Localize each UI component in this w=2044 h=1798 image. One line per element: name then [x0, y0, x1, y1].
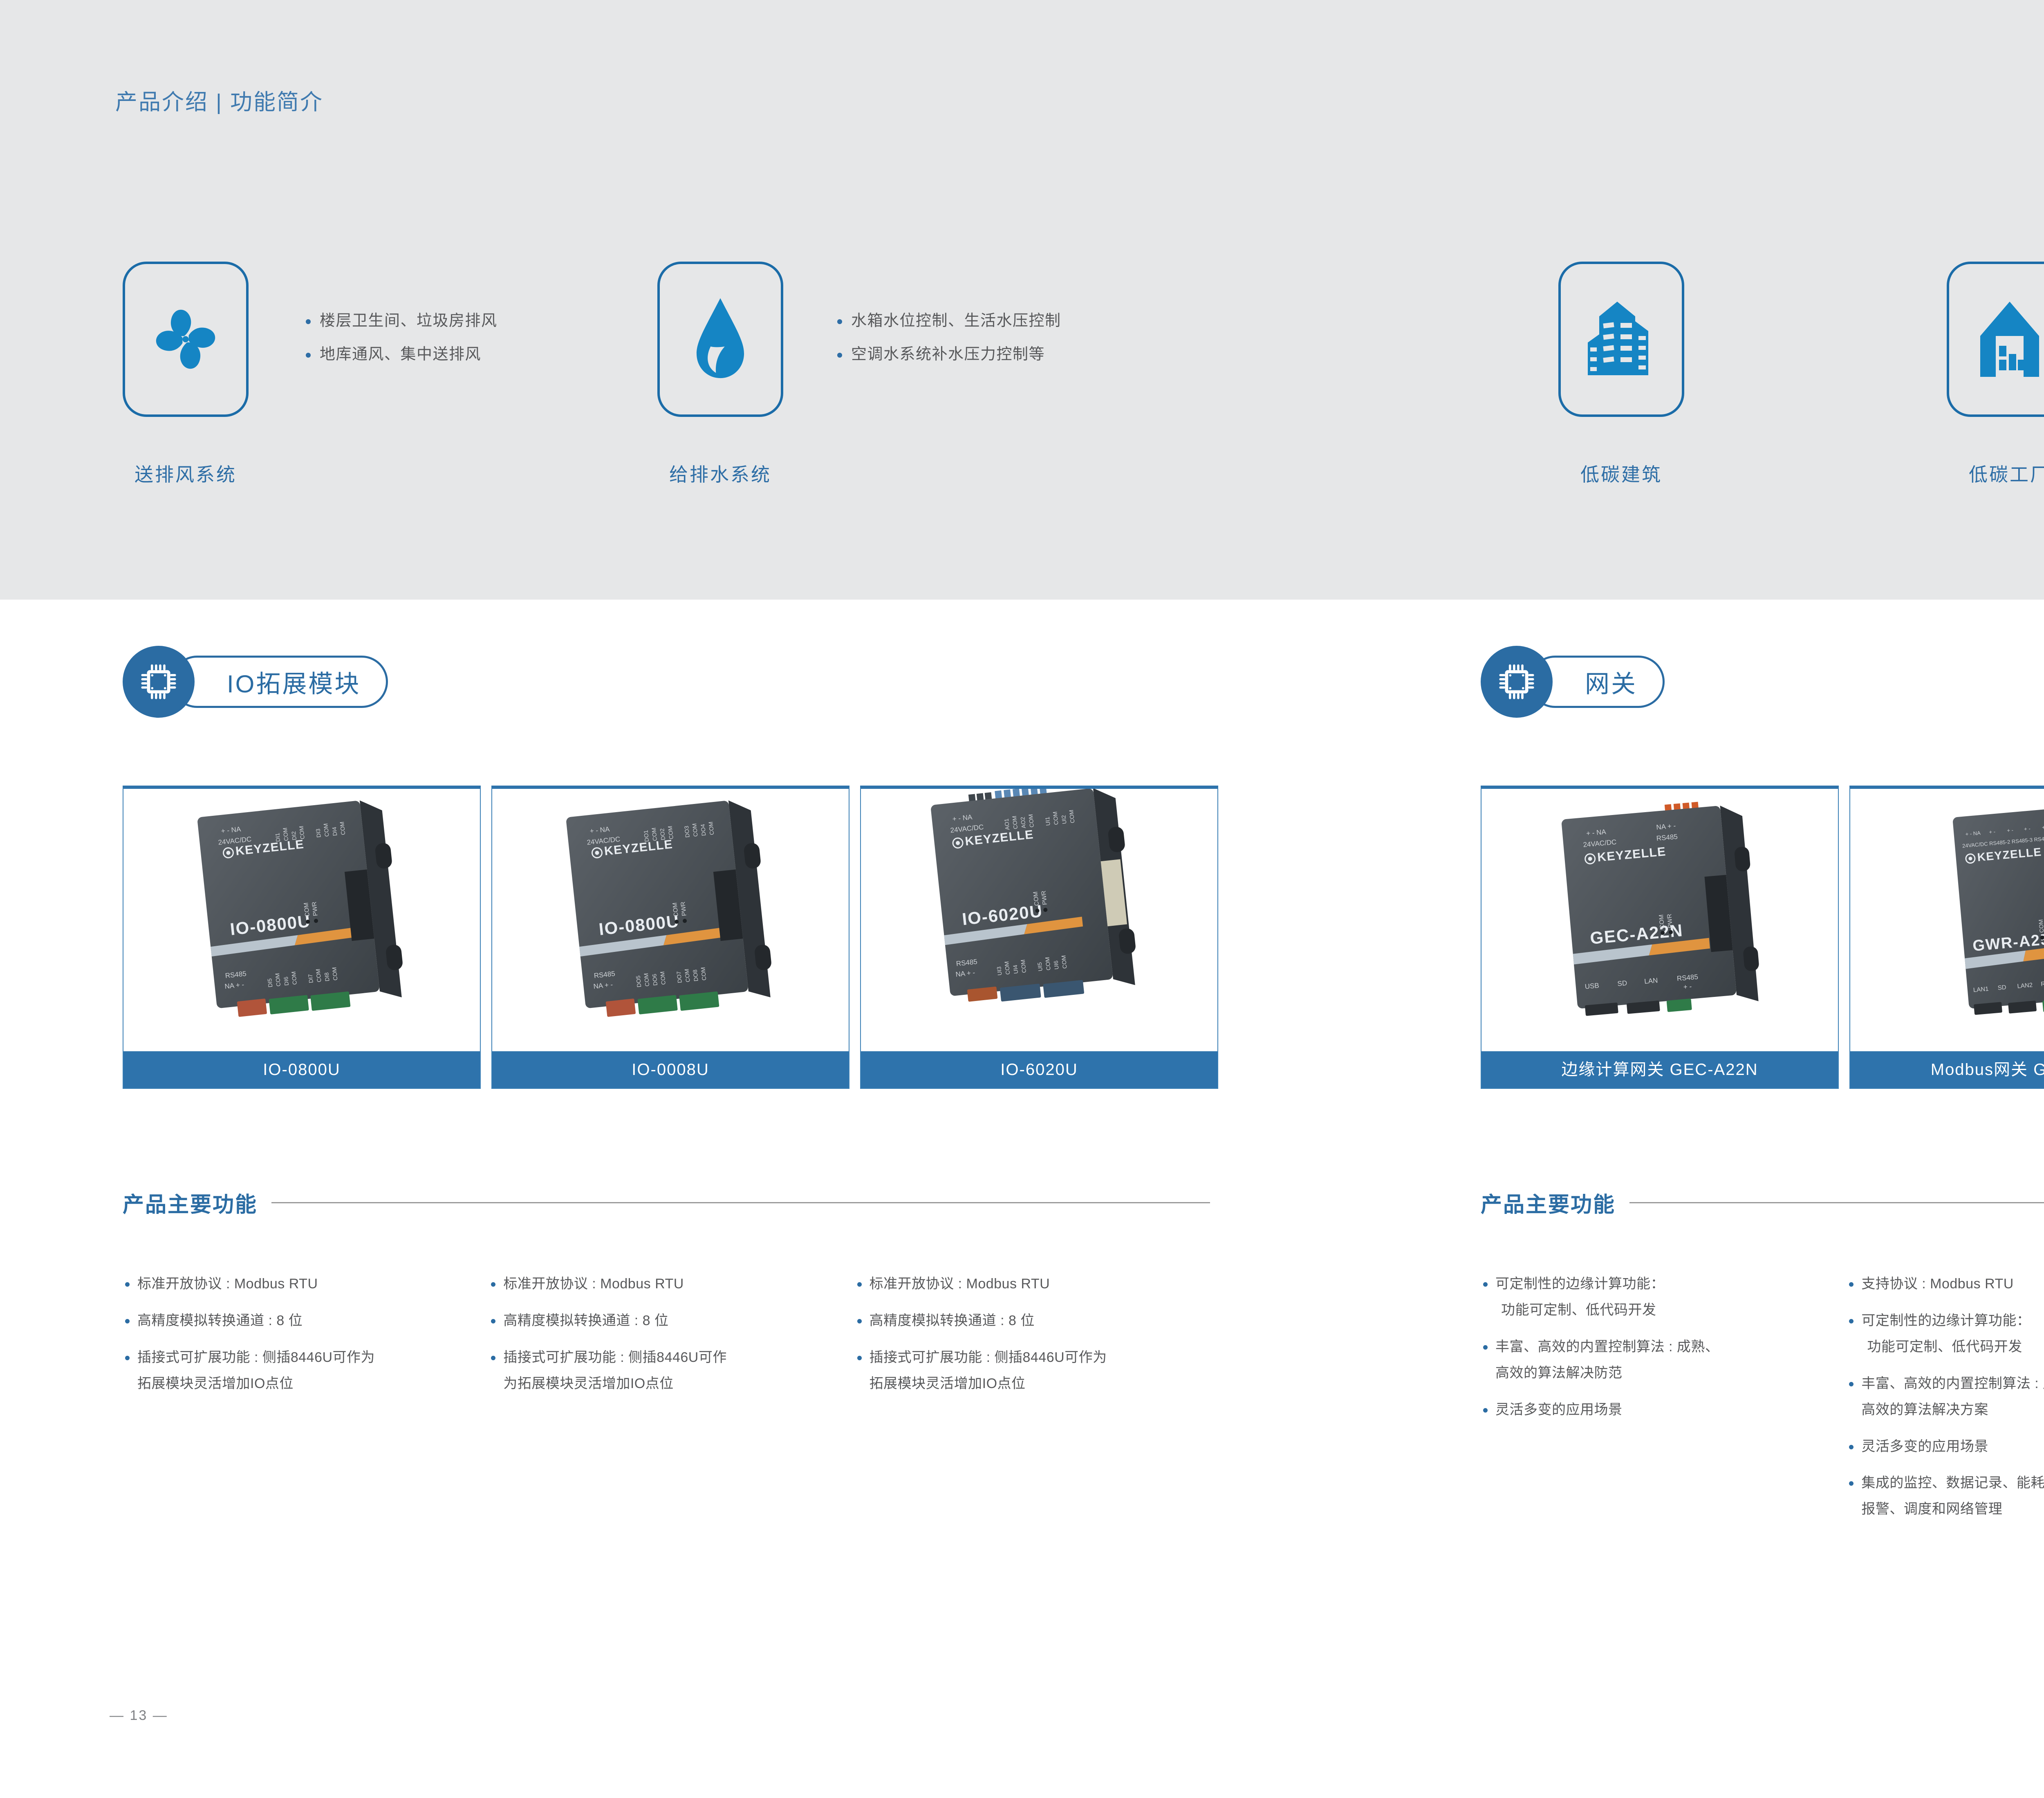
svg-text:DI5: DI5	[266, 978, 273, 988]
svg-text:LAN1: LAN1	[1973, 985, 1989, 994]
scenario-caption-ventilation: 送排风系统	[123, 460, 249, 487]
feature-columns-right: 可定制性的边缘计算功能： 功能可定制、低代码开发 丰富、高效的内置控制算法 : …	[1481, 1271, 2044, 1533]
svg-text:+ -: + -	[1989, 828, 1996, 835]
svg-text:+ -: + -	[2024, 826, 2031, 832]
svg-text:DI4: DI4	[331, 826, 338, 836]
list-item: 标准开放协议 : Modbus RTU	[489, 1271, 844, 1297]
svg-text:COM: COM	[707, 822, 715, 835]
list-item: 支持协议 : Modbus RTU	[1847, 1271, 2044, 1297]
features-heading-right: 产品主要功能	[1481, 1187, 2044, 1218]
product-card-label: IO-6020U	[861, 1051, 1217, 1088]
svg-text:COM: COM	[671, 902, 680, 917]
list-item: 楼层卫生间、垃圾房排风	[303, 305, 498, 338]
svg-text:COM: COM	[1011, 815, 1019, 829]
product-card[interactable]: + - NA+ - + -+ -+ - 24VAC/DC RS485-2 RS4…	[1849, 786, 2044, 1089]
svg-text:COM: COM	[1027, 814, 1035, 828]
svg-text:AO1: AO1	[1003, 818, 1011, 831]
feature-column: 支持协议 : Modbus RTU 可定制性的边缘计算功能： 功能可定制、低代码…	[1847, 1271, 2044, 1533]
svg-text:UI3: UI3	[995, 966, 1003, 976]
scenario-tile-ventilation	[123, 262, 249, 417]
list-item: 插接式可扩展功能 : 侧插8446U可作为 拓展模块灵活增加IO点位	[123, 1345, 478, 1397]
svg-text:+ -: + -	[2007, 827, 2014, 833]
list-item: 丰富、高效的内置控制算法 : 成熟、 高效的算法解决方案	[1847, 1371, 2044, 1423]
svg-text:COM: COM	[314, 969, 322, 983]
svg-text:AO2: AO2	[1019, 817, 1027, 829]
svg-text:DO6: DO6	[651, 974, 659, 986]
product-image-io-0008u: + - NA 24VAC/DC DO1 COM DO2 COM DO3 COM …	[492, 789, 849, 1051]
svg-text:COM: COM	[1658, 914, 1666, 929]
svg-text:UI5: UI5	[1036, 962, 1044, 972]
product-image-io-6020u: + - NA 24VAC/DC AO1 COM AO2 COM UI1 COM …	[861, 789, 1217, 1051]
svg-text:UI6: UI6	[1052, 960, 1060, 970]
svg-text:COM: COM	[643, 973, 650, 987]
list-item: 标准开放协议 : Modbus RTU	[855, 1271, 1210, 1297]
svg-text:DO8: DO8	[692, 969, 699, 982]
features-title: 产品主要功能	[123, 1187, 258, 1218]
scenario-caption-low-carbon-building: 低碳建筑	[1558, 460, 1684, 487]
svg-text:COM: COM	[2037, 919, 2044, 933]
svg-text:COM: COM	[1060, 955, 1068, 969]
feature-columns-left: 标准开放协议 : Modbus RTU 高精度模拟转换通道 : 8 位 插接式可…	[123, 1271, 1210, 1408]
svg-text:COM: COM	[303, 902, 311, 917]
factory-icon	[1975, 298, 2044, 380]
feature-column: 标准开放协议 : Modbus RTU 高精度模拟转换通道 : 8 位 插接式可…	[123, 1271, 478, 1408]
list-item: 空调水系统补水压力控制等	[834, 338, 1061, 372]
product-card-label: Modbus网关 GWR-A25N	[1850, 1051, 2044, 1088]
svg-text:COM: COM	[1003, 961, 1011, 975]
scenario-caption-water: 给排水系统	[657, 460, 783, 487]
svg-text:SD: SD	[1997, 984, 2006, 992]
scenario-tile-low-carbon-factory	[1947, 262, 2044, 417]
svg-text:DI6: DI6	[282, 976, 290, 986]
badge-label-gateway: 网关	[1585, 664, 1637, 700]
svg-text:COM: COM	[1020, 959, 1027, 973]
list-item: 灵活多变的应用场景	[1847, 1434, 2044, 1460]
product-card-row-gateway: + - NA 24VAC/DC NA + - RS485 KEYZELLE GE…	[1481, 786, 2044, 1089]
feature-column: 可定制性的边缘计算功能： 功能可定制、低代码开发 丰富、高效的内置控制算法 : …	[1481, 1271, 1836, 1533]
list-item: 高精度模拟转换通道 : 8 位	[123, 1308, 478, 1334]
page-header-left: 产品介绍 | 功能简介	[115, 84, 323, 116]
product-card[interactable]: + - NA 24VAC/DC DO1 COM DO2 COM DO3 COM …	[491, 786, 849, 1089]
product-card-label: IO-0008U	[492, 1051, 849, 1088]
svg-text:COM: COM	[338, 822, 346, 835]
features-title: 产品主要功能	[1481, 1187, 1616, 1218]
feature-column: 标准开放协议 : Modbus RTU 高精度模拟转换通道 : 8 位 插接式可…	[489, 1271, 844, 1408]
svg-text:COM: COM	[290, 971, 298, 985]
product-card[interactable]: + - NA 24VAC/DC AO1 COM AO2 COM UI1 COM …	[860, 786, 1218, 1089]
svg-text:COM: COM	[683, 969, 691, 983]
feature-column: 标准开放协议 : Modbus RTU 高精度模拟转换通道 : 8 位 插接式可…	[855, 1271, 1210, 1408]
list-item: 灵活多变的应用场景	[1481, 1397, 1836, 1423]
svg-text:UI4: UI4	[1012, 965, 1019, 974]
svg-text:LAN2: LAN2	[2017, 982, 2033, 990]
svg-text:USB: USB	[1585, 982, 1599, 991]
list-item: 地库通风、集中送排风	[303, 338, 498, 372]
list-item: 丰富、高效的内置控制算法 : 成熟、 高效的算法解决防范	[1481, 1334, 1836, 1386]
svg-text:DO4: DO4	[699, 824, 707, 836]
list-item: 可定制性的边缘计算功能： 功能可定制、低代码开发	[1481, 1271, 1836, 1323]
svg-text:COM: COM	[274, 973, 282, 987]
svg-text:PWR: PWR	[1666, 914, 1674, 929]
list-item: 标准开放协议 : Modbus RTU	[123, 1271, 478, 1297]
scenario-bullets-ventilation: 楼层卫生间、垃圾房排风 地库通风、集中送排风	[303, 305, 498, 371]
heading-rule	[1629, 1202, 2044, 1203]
chip-icon	[1481, 646, 1553, 718]
features-heading-left: 产品主要功能	[123, 1187, 1210, 1218]
svg-text:COM: COM	[331, 967, 338, 981]
svg-text:DO5: DO5	[634, 975, 642, 988]
svg-text:COM: COM	[1068, 810, 1076, 824]
list-item: 插接式可扩展功能 : 侧插8446U可作 为拓展模块灵活增加IO点位	[489, 1345, 844, 1397]
product-image-gec-a22n: + - NA 24VAC/DC NA + - RS485 KEYZELLE GE…	[1481, 789, 1838, 1051]
fan-icon	[147, 300, 224, 378]
svg-text:UI2: UI2	[1060, 815, 1067, 824]
heading-rule	[271, 1202, 1210, 1203]
scenario-tile-water	[657, 262, 783, 417]
svg-text:DO7: DO7	[675, 971, 683, 983]
svg-text:UI1: UI1	[1044, 816, 1051, 826]
svg-text:COM: COM	[1044, 957, 1051, 971]
badge-label-io-modules: IO拓展模块	[227, 664, 361, 700]
product-image-io-0800u: + - NA 24VAC/DC DI1 COM DI2 COM DI3 COM …	[123, 789, 480, 1051]
product-card-label: IO-0800U	[123, 1051, 480, 1088]
scenario-bullets-water: 水箱水位控制、生活水压控制 空调水系统补水压力控制等	[834, 305, 1061, 371]
scenario-tile-low-carbon-building	[1558, 262, 1684, 417]
list-item: 插接式可扩展功能 : 侧插8446U可作为 拓展模块灵活增加IO点位	[855, 1345, 1210, 1397]
svg-text:+ -: + -	[1683, 983, 1692, 991]
product-card-label: 边缘计算网关 GEC-A22N	[1481, 1051, 1838, 1088]
page-number-left: — 13 —	[110, 1708, 168, 1724]
svg-text:LAN: LAN	[1644, 976, 1658, 985]
svg-text:COM: COM	[1051, 811, 1059, 825]
svg-text:DI8: DI8	[323, 972, 330, 982]
list-item: 高精度模拟转换通道 : 8 位	[855, 1308, 1210, 1334]
svg-text:COM: COM	[659, 971, 667, 985]
product-card[interactable]: + - NA 24VAC/DC NA + - RS485 KEYZELLE GE…	[1481, 786, 1839, 1089]
list-item: 集成的监控、数据记录、能耗计量、 报警、调度和网络管理	[1847, 1470, 2044, 1523]
svg-text:COM: COM	[691, 823, 699, 837]
list-item: 可定制性的边缘计算功能： 功能可定制、低代码开发	[1847, 1308, 2044, 1360]
product-image-gwr-a25n: + - NA+ - + -+ -+ - 24VAC/DC RS485-2 RS4…	[1850, 789, 2044, 1051]
svg-text:DI3: DI3	[315, 828, 322, 838]
product-card[interactable]: + - NA 24VAC/DC DI1 COM DI2 COM DI3 COM …	[123, 786, 481, 1089]
scenario-caption-low-carbon-factory: 低碳工厂	[1947, 460, 2044, 487]
list-item: 高精度模拟转换通道 : 8 位	[489, 1308, 844, 1334]
product-card-row-io: + - NA 24VAC/DC DI1 COM DI2 COM DI3 COM …	[123, 786, 1218, 1089]
svg-text:+ -: + -	[2042, 824, 2044, 831]
list-item: 水箱水位控制、生活水压控制	[834, 305, 1061, 338]
office-building-icon	[1585, 298, 1658, 380]
badge-pill-io-modules: IO拓展模块	[171, 656, 388, 708]
svg-text:SD: SD	[1617, 979, 1627, 988]
chip-icon	[123, 646, 195, 718]
svg-text:DI7: DI7	[307, 974, 314, 983]
svg-text:DO3: DO3	[683, 825, 691, 838]
svg-text:COM: COM	[699, 967, 707, 981]
svg-text:COM: COM	[322, 823, 330, 837]
svg-text:COM: COM	[1032, 891, 1041, 906]
water-drop-icon	[686, 296, 755, 383]
